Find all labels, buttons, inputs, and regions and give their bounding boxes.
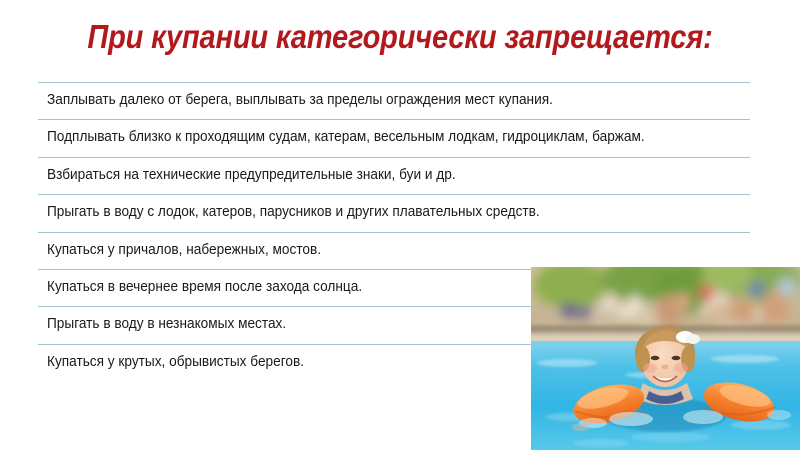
list-item: Купаться у причалов, набережных, мостов. <box>38 232 750 269</box>
page-title: При купании категорически запрещается: <box>48 17 752 57</box>
list-item: Подплывать близко к проходящим судам, ка… <box>38 119 750 156</box>
list-item-label: Подплывать близко к проходящим судам, ка… <box>47 128 645 147</box>
list-item-label: Взбираться на технические предупредитель… <box>47 166 456 185</box>
swimming-photo <box>531 267 800 450</box>
list-item-label: Прыгать в воду в незнакомых местах. <box>47 315 286 334</box>
list-item: Взбираться на технические предупредитель… <box>38 157 750 194</box>
list-item: Заплывать далеко от берега, выплывать за… <box>38 82 750 119</box>
list-item-label: Заплывать далеко от берега, выплывать за… <box>47 91 553 110</box>
list-item-label: Купаться у причалов, набережных, мостов. <box>47 241 321 260</box>
list-item-label: Купаться в вечернее время после захода с… <box>47 278 362 297</box>
list-item: Прыгать в воду с лодок, катеров, парусни… <box>38 194 750 231</box>
list-item-label: Купаться у крутых, обрывистых берегов. <box>47 353 304 372</box>
slide-root: При купании категорически запрещается: З… <box>0 0 800 450</box>
list-item-label: Прыгать в воду с лодок, катеров, парусни… <box>47 203 540 222</box>
swimming-photo-image <box>531 267 800 450</box>
